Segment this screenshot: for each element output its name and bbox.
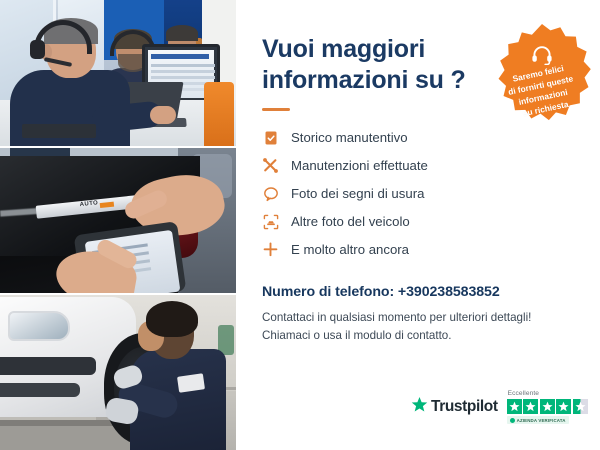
comment-icon	[262, 185, 279, 202]
star-icon	[507, 399, 522, 414]
trustpilot-star-icon	[411, 396, 428, 418]
star-half-icon	[573, 399, 588, 414]
content-panel: Vuoi maggiori informazioni su ? Storico …	[236, 0, 600, 450]
phone-number-label[interactable]: Numero di telefono: +390238583852	[262, 284, 574, 300]
star-icon	[556, 399, 571, 414]
promo-banner: Vuoi maggiori informazioni su ? Storico …	[0, 0, 600, 450]
verified-label: AZIENDA VERIFICATA	[517, 418, 566, 423]
photo-3-scene	[0, 295, 236, 450]
title-underline-divider	[262, 108, 290, 111]
tools-icon	[262, 157, 279, 174]
mechanic-hair	[146, 301, 198, 337]
keyboard	[22, 124, 96, 138]
list-item-label: Altre foto del veicolo	[291, 214, 410, 229]
car-grille-lower	[0, 383, 80, 397]
person-1-headset-earcup	[30, 40, 45, 59]
callout-badge: Saremo felicidi fornirti questeinformazi…	[490, 24, 594, 128]
rating-word: Eccellente	[507, 390, 539, 397]
photo-column	[0, 0, 236, 450]
verified-check-icon	[510, 418, 515, 423]
star-icon	[523, 399, 538, 414]
person-1-hand	[150, 106, 176, 124]
car-lift-ramp	[0, 426, 134, 450]
trustpilot-logo: Trustpilot	[411, 396, 498, 418]
contact-line-1: Contattaci in qualsiasi momento per ulte…	[262, 309, 574, 327]
call-center-agents-photo	[0, 0, 236, 146]
contact-line-2: Chiamaci o usa il modulo di contatto.	[262, 327, 574, 345]
verified-company-badge: AZIENDA VERIFICATA	[507, 416, 569, 424]
list-item-label: Manutenzioni effettuate	[291, 158, 428, 173]
list-item: Storico manutentivo	[262, 125, 574, 150]
badge-text: Saremo felicidi fornirti questeinformazi…	[486, 58, 598, 126]
list-item: E molto altro ancora	[262, 237, 574, 262]
list-item: Foto dei segni di usura	[262, 181, 574, 206]
mechanic	[132, 301, 228, 450]
vehicle-inspection-ruler-photo	[0, 148, 236, 293]
plus-icon	[262, 241, 279, 258]
car-scan-icon	[262, 213, 279, 230]
trustpilot-wordmark: Trustpilot	[431, 398, 498, 416]
car-grille-upper	[0, 357, 96, 375]
list-item: Altre foto del veicolo	[262, 209, 574, 234]
trustpilot-rating: Eccellente AZIENDA VERIFICATA	[507, 390, 588, 424]
trustpilot-widget[interactable]: Trustpilot Eccellente AZIENDA VERIFICATA	[411, 390, 588, 424]
list-item-label: Foto dei segni di usura	[291, 186, 424, 201]
photo-2-scene	[0, 148, 236, 293]
photo-1-scene	[0, 0, 236, 146]
contact-instructions: Contattaci in qualsiasi momento per ulte…	[262, 309, 574, 345]
orange-floor-object	[204, 82, 234, 146]
mechanic-wheel-check-photo	[0, 295, 236, 450]
car-headlight	[8, 311, 70, 341]
star-icon	[540, 399, 555, 414]
clipboard-check-icon	[262, 129, 279, 146]
star-rating	[507, 399, 588, 414]
feature-list: Storico manutentivo Manutenzioni effettu…	[262, 125, 574, 262]
list-item-label: E molto altro ancora	[291, 242, 409, 257]
list-item: Manutenzioni effettuate	[262, 153, 574, 178]
list-item-label: Storico manutentivo	[291, 130, 408, 145]
